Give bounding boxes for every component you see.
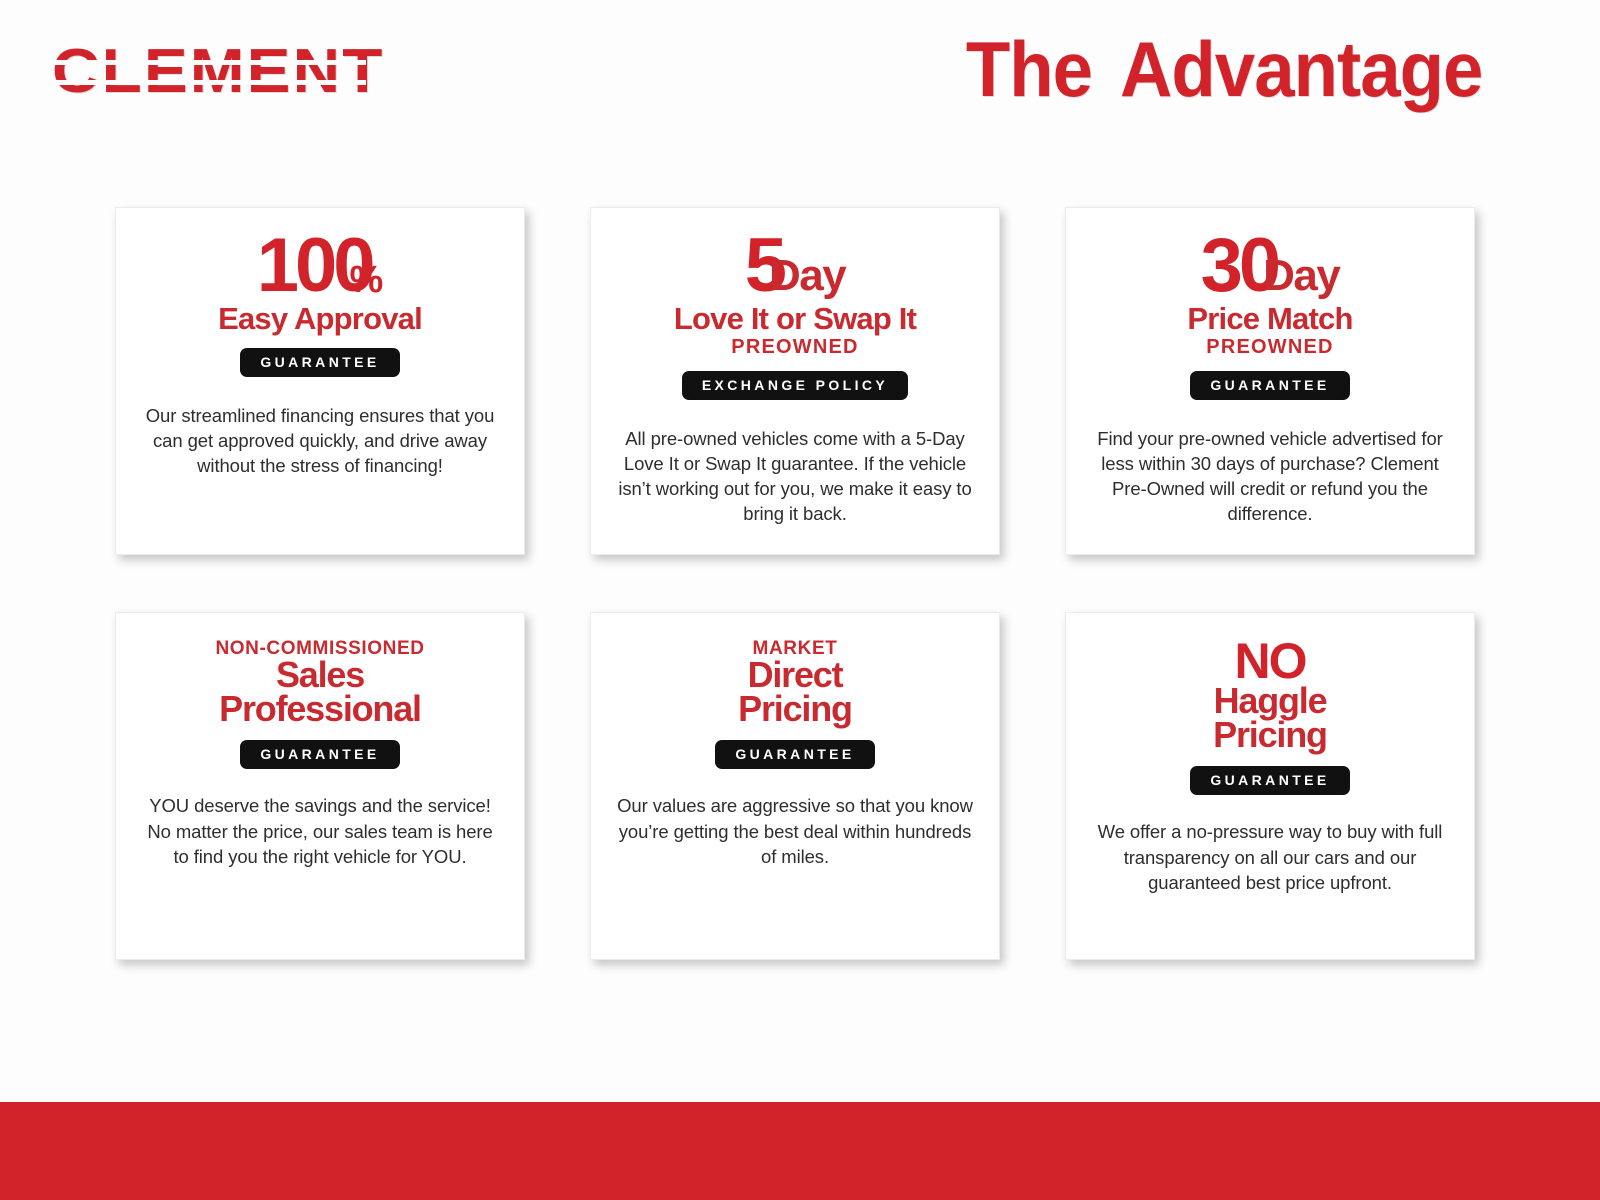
card-market-direct-pricing-head: MARKET Direct Pricing GUARANTEE [613, 639, 977, 769]
headline-subtitle: Easy Approval [218, 303, 422, 334]
lockup-5-day: 5 Day [745, 234, 846, 299]
headline-line-1: Haggle [1214, 684, 1327, 718]
lockup-100-percent: 100 % [257, 234, 384, 299]
card-body-text: All pre-owned vehicles come with a 5-Day… [613, 426, 977, 527]
headline-day-label: Day [769, 257, 845, 294]
card-easy-approval[interactable]: 100 % Easy Approval GUARANTEE Our stream… [115, 207, 525, 555]
badge-guarantee: GUARANTEE [240, 348, 399, 377]
card-easy-approval-head: 100 % Easy Approval GUARANTEE [138, 234, 502, 377]
headline-subtitle: Love It or Swap It [674, 303, 916, 334]
badge-guarantee: GUARANTEE [715, 740, 874, 769]
card-price-match[interactable]: 30 Day Price Match PREOWNED GUARANTEE Fi… [1065, 207, 1475, 555]
badge-guarantee: GUARANTEE [1190, 371, 1349, 400]
card-body-text: YOU deserve the savings and the service!… [138, 793, 502, 868]
card-body-text: Our streamlined financing ensures that y… [138, 403, 502, 478]
card-body-text: Our values are aggressive so that you kn… [613, 793, 977, 868]
lockup-30-day: 30 Day [1201, 234, 1340, 299]
card-love-it-or-swap-it-head: 5 Day Love It or Swap It PREOWNED EXCHAN… [613, 234, 977, 400]
clement-logo: CLEMENT [52, 44, 366, 100]
headline-preowned-label: PREOWNED [731, 337, 858, 357]
footer-red-bar [0, 1102, 1600, 1200]
card-market-direct-pricing[interactable]: MARKET Direct Pricing GUARANTEE Our valu… [590, 612, 1000, 960]
headline-line-1: Sales [276, 658, 364, 692]
card-sales-professional[interactable]: NON-COMMISSIONED Sales Professional GUAR… [115, 612, 525, 960]
card-no-haggle-pricing[interactable]: NO Haggle Pricing GUARANTEE We offer a n… [1065, 612, 1475, 960]
advantage-card-grid: 100 % Easy Approval GUARANTEE Our stream… [115, 207, 1485, 960]
card-love-it-or-swap-it[interactable]: 5 Day Love It or Swap It PREOWNED EXCHAN… [590, 207, 1000, 555]
page-header: CLEMENT TheAdvantage [0, 0, 1600, 180]
badge-guarantee: GUARANTEE [240, 740, 399, 769]
headline-line-1: Direct [748, 658, 843, 692]
card-no-haggle-pricing-head: NO Haggle Pricing GUARANTEE [1088, 639, 1452, 795]
page-title-advantage: Advantage [1120, 25, 1482, 113]
headline-top: NO [1234, 639, 1305, 684]
card-body-text: We offer a no-pressure way to buy with f… [1088, 819, 1452, 894]
card-body-text: Find your pre-owned vehicle advertised f… [1088, 426, 1452, 527]
card-price-match-head: 30 Day Price Match PREOWNED GUARANTEE [1088, 234, 1452, 400]
page-title-the: The [965, 25, 1091, 113]
clement-logo-text: CLEMENT [52, 41, 384, 103]
card-sales-professional-head: NON-COMMISSIONED Sales Professional GUAR… [138, 639, 502, 769]
headline-line-2: Pricing [738, 692, 852, 726]
percent-symbol: % [350, 264, 384, 296]
advantage-page: CLEMENT TheAdvantage 100 % Easy Approval… [0, 0, 1600, 1200]
headline-line-2: Pricing [1213, 718, 1327, 752]
badge-exchange-policy: EXCHANGE POLICY [682, 371, 908, 400]
badge-guarantee: GUARANTEE [1190, 766, 1349, 795]
headline-subtitle: Price Match [1187, 303, 1352, 334]
headline-preowned-label: PREOWNED [1206, 337, 1333, 357]
headline-line-2: Professional [219, 692, 421, 726]
headline-day-label: Day [1263, 257, 1339, 294]
page-title: TheAdvantage [965, 30, 1482, 108]
